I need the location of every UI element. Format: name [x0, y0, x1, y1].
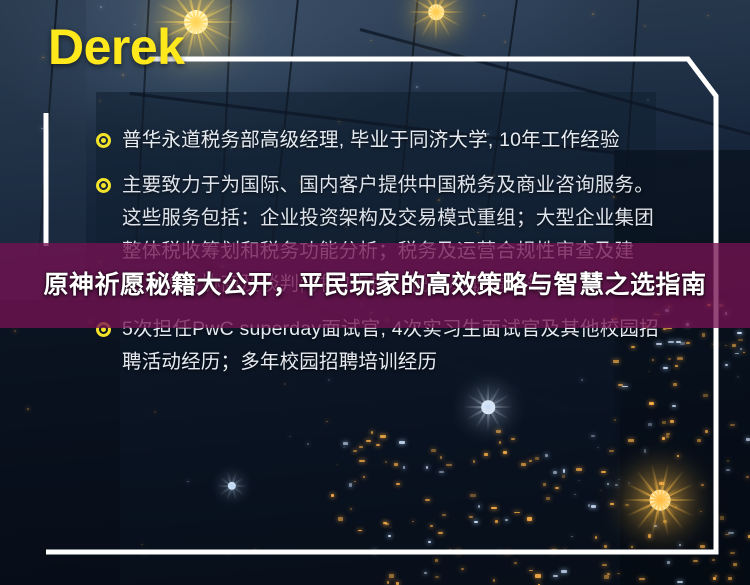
person-name: Derek — [48, 22, 185, 72]
slide-canvas: Derek 普华永道税务部高级经理, 毕业于同济大学, 10年工作经验 主要致力… — [0, 0, 750, 585]
list-item-text: 普华永道税务部高级经理, 毕业于同济大学, 10年工作经验 — [122, 124, 662, 157]
overlay-banner: 原神祈愿秘籍大公开，平民玩家的高效策略与智慧之选指南 — [0, 243, 750, 328]
target-dot-icon — [96, 178, 111, 193]
target-dot-icon — [96, 133, 111, 148]
list-item: 普华永道税务部高级经理, 毕业于同济大学, 10年工作经验 — [96, 124, 662, 157]
overlay-title: 原神祈愿秘籍大公开，平民玩家的高效策略与智慧之选指南 — [31, 266, 718, 305]
